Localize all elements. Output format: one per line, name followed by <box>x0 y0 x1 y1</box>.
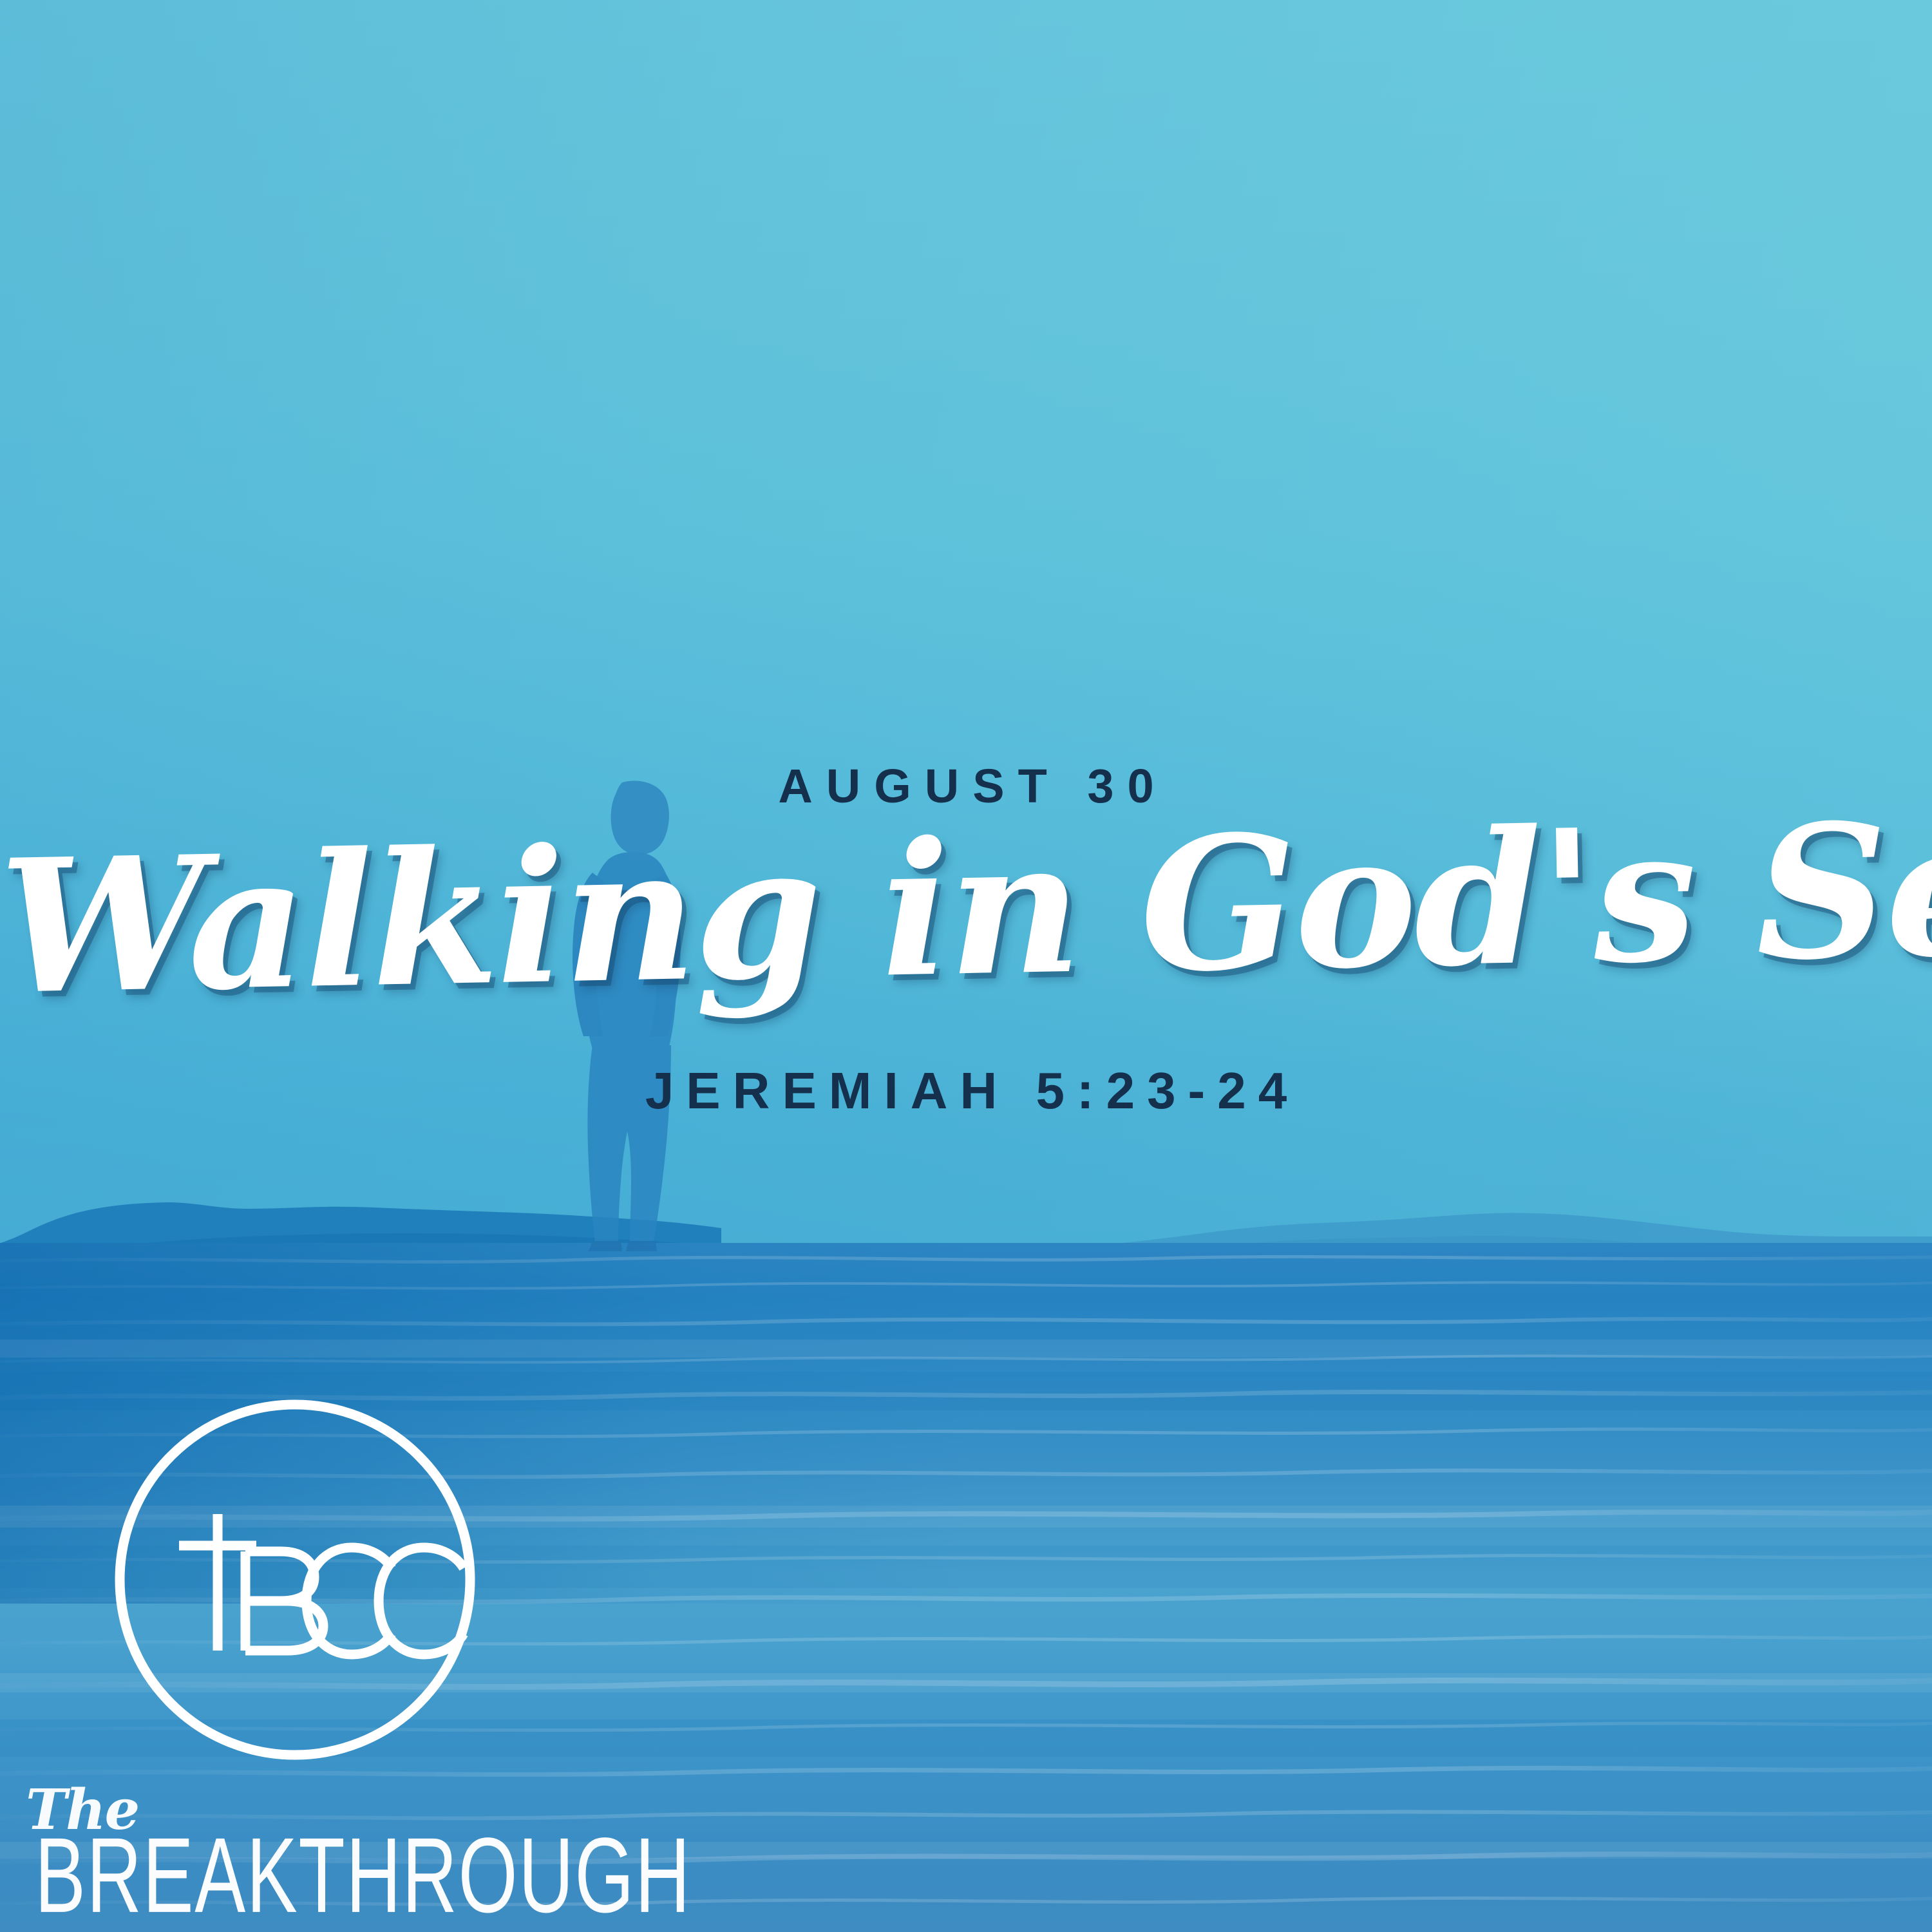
sermon-title: Walking in God's Season <box>0 794 1932 1024</box>
breakthrough-wordmark[interactable]: The BREAKTHROUGH <box>19 1777 728 1926</box>
logo-circle-outline <box>120 1405 470 1755</box>
sermon-poster: AUGUST 30 Walking in God's Season JEREMI… <box>0 0 1932 1932</box>
brand-name-breakthrough: BREAKTHROUGH <box>35 1823 691 1929</box>
logo-monogram <box>179 1514 464 1654</box>
tbcc-logo[interactable] <box>108 1393 482 1766</box>
logo-letter-c-second <box>379 1548 464 1654</box>
scripture-reference: JEREMIAH 5:23-24 <box>0 1061 1932 1121</box>
